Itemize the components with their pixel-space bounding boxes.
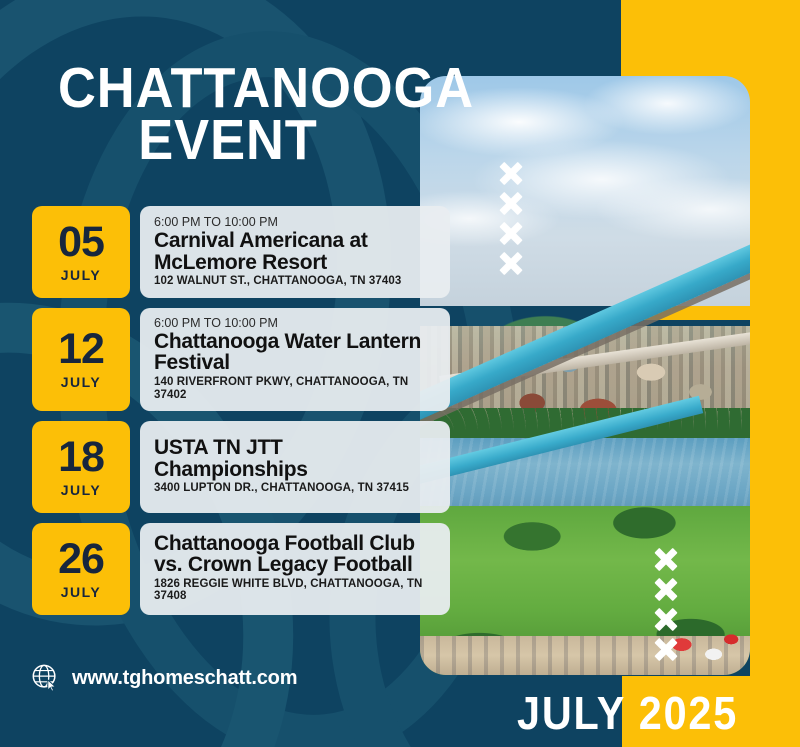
event-address: 3400 LUPTON DR., CHATTANOOGA, TN 37415	[154, 482, 436, 495]
list-item[interactable]: 26 JULY Chattanooga Football Club vs. Cr…	[32, 523, 450, 615]
title-line-secondary: EVENT	[72, 114, 385, 166]
event-card[interactable]: Chattanooga Football Club vs. Crown Lega…	[140, 523, 450, 615]
list-item[interactable]: 18 JULY USTA TN JTT Championships 3400 L…	[32, 421, 450, 513]
title-line-primary: CHATTANOOGA	[58, 62, 371, 114]
date-badge: 12 JULY	[32, 308, 130, 411]
x-icon	[655, 578, 677, 600]
x-icon	[655, 548, 677, 570]
globe-cursor-icon	[30, 663, 60, 693]
event-title: Carnival Americana at McLemore Resort	[154, 230, 436, 273]
event-address: 1826 REGGIE WHITE BLVD, CHATTANOOGA, TN …	[154, 578, 436, 604]
event-list: 05 JULY 6:00 PM TO 10:00 PM Carnival Ame…	[32, 206, 450, 625]
list-item[interactable]: 05 JULY 6:00 PM TO 10:00 PM Carnival Ame…	[32, 206, 450, 298]
event-poster: CHATTANOOGA EVENT 05 JULY 6:00 PM TO 10:…	[0, 0, 800, 747]
list-item[interactable]: 12 JULY 6:00 PM TO 10:00 PM Chattanooga …	[32, 308, 450, 411]
x-icon	[500, 192, 522, 214]
event-card[interactable]: 6:00 PM TO 10:00 PM Carnival Americana a…	[140, 206, 450, 298]
date-month: JULY	[61, 267, 102, 283]
event-title: Chattanooga Water Lantern Festival	[154, 331, 436, 374]
event-address: 140 RIVERFRONT PKWY, CHATTANOOGA, TN 374…	[154, 376, 436, 402]
event-address: 102 WALNUT ST., CHATTANOOGA, TN 37403	[154, 275, 436, 288]
event-card[interactable]: USTA TN JTT Championships 3400 LUPTON DR…	[140, 421, 450, 513]
website-footer[interactable]: www.tghomeschatt.com	[30, 663, 297, 693]
page-title: CHATTANOOGA EVENT	[58, 62, 398, 167]
event-card[interactable]: 6:00 PM TO 10:00 PM Chattanooga Water La…	[140, 308, 450, 411]
date-month: JULY	[61, 374, 102, 390]
date-day: 18	[58, 436, 104, 479]
x-icon	[655, 638, 677, 660]
x-marks-bottom-group	[655, 548, 677, 660]
date-day: 12	[58, 328, 104, 371]
event-title: Chattanooga Football Club vs. Crown Lega…	[154, 533, 436, 576]
x-marks-top-group	[500, 162, 522, 274]
x-icon	[655, 608, 677, 630]
event-title: USTA TN JTT Championships	[154, 437, 436, 480]
date-badge: 18 JULY	[32, 421, 130, 513]
month-banner: JULY 2025	[517, 690, 738, 736]
website-url[interactable]: www.tghomeschatt.com	[72, 667, 297, 690]
x-icon	[500, 162, 522, 184]
x-icon	[500, 252, 522, 274]
chattanooga-skyline-photo	[420, 76, 750, 675]
event-time: 6:00 PM TO 10:00 PM	[154, 215, 436, 229]
yellow-panel-right-edge	[750, 0, 800, 747]
date-badge: 26 JULY	[32, 523, 130, 615]
event-time: 6:00 PM TO 10:00 PM	[154, 316, 436, 330]
date-badge: 05 JULY	[32, 206, 130, 298]
date-day: 05	[58, 221, 104, 264]
date-month: JULY	[61, 584, 102, 600]
x-icon	[500, 222, 522, 244]
date-month: JULY	[61, 482, 102, 498]
date-day: 26	[58, 538, 104, 581]
